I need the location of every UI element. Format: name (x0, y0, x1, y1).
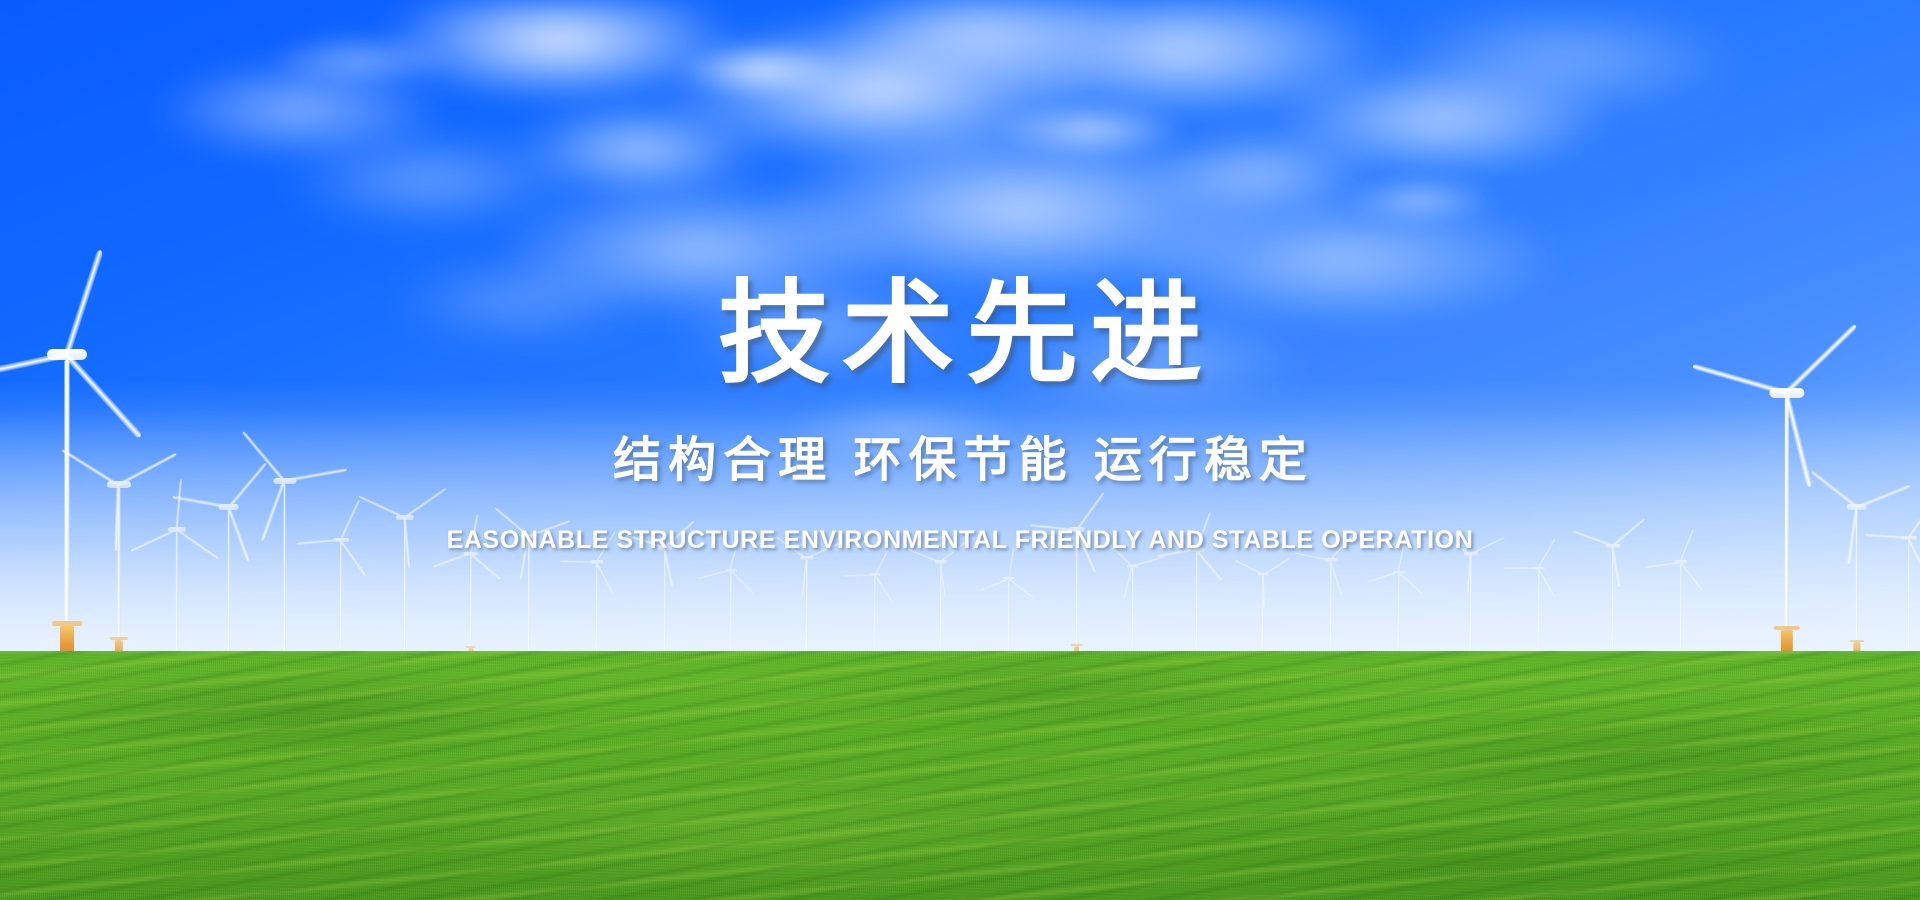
turbine-4 (228, 0, 229, 660)
turbine-blade (284, 468, 348, 483)
turbine-blade (1693, 364, 1788, 397)
turbine-blade (1008, 578, 1033, 599)
turbine-tower (227, 510, 230, 660)
turbine-blade (1679, 528, 1695, 563)
turbine-25 (1612, 0, 1613, 660)
turbine-blade (1504, 567, 1538, 569)
turbine-blade (494, 506, 530, 536)
turbine-blade (1030, 523, 1076, 531)
turbine-tower (730, 572, 732, 660)
turbine-13 (806, 0, 807, 660)
turbine-blade (1262, 557, 1290, 576)
turbine-tower (1008, 580, 1010, 660)
banner-stage: 技术先进 结构合理 环保节能 运行稳定 EASONABLE STRUCTURE … (0, 0, 1920, 900)
turbine-9 (528, 0, 529, 660)
turbine-26 (1680, 0, 1681, 660)
turbine-blade (1195, 512, 1211, 550)
turbine-blade (1234, 559, 1263, 576)
turbine-tower (1784, 398, 1788, 660)
turbine-tower (596, 564, 598, 660)
turbine-blade (339, 499, 360, 540)
turbine-blade (1865, 533, 1909, 539)
turbine-blade (470, 553, 502, 580)
turbine-tower (1132, 568, 1134, 660)
turbine-tower (340, 542, 342, 660)
turbine-blade (227, 507, 250, 562)
turbine-blade (433, 553, 471, 569)
turbine-tower (806, 560, 808, 660)
turbine-blade (1644, 561, 1680, 568)
turbine-blade (596, 531, 617, 563)
turbine-6 (340, 0, 341, 660)
turbine-blade (175, 479, 183, 530)
turbine-platform (1773, 626, 1799, 630)
turbine-tower (1398, 574, 1400, 660)
turbine-blade (64, 352, 143, 438)
turbine-blade (907, 548, 940, 563)
turbine-blade (1367, 571, 1399, 583)
turbine-11 (664, 0, 665, 660)
turbine-tower (1538, 570, 1540, 660)
turbine-blade (1107, 542, 1133, 567)
turbine-blade (698, 569, 730, 580)
turbine-blade (1810, 471, 1857, 509)
turbine-tower (470, 556, 472, 660)
turbine-blade (626, 535, 664, 550)
turbine-tower (528, 538, 530, 660)
turbine-blade (874, 546, 891, 575)
turbine-blade (1612, 518, 1646, 547)
turbine-23 (1470, 0, 1471, 660)
turbine-17 (1076, 0, 1077, 660)
turbine-blade (176, 528, 219, 560)
turbine-blade (1008, 548, 1014, 579)
turbine-blade (1538, 568, 1557, 599)
turbine-blade (63, 249, 104, 356)
turbine-blade (61, 448, 119, 487)
turbine-7 (404, 0, 405, 660)
turbine-blade (118, 452, 178, 487)
turbine-14 (874, 0, 875, 660)
turbine-blade (664, 521, 695, 549)
turbine-tower (874, 576, 876, 660)
turbine-tower (175, 532, 177, 660)
turbine-blade (1398, 572, 1424, 596)
turbine-blade (130, 528, 177, 552)
turbine-blade (940, 540, 969, 563)
turbine-tower (1612, 548, 1614, 660)
turbine-blade (0, 351, 67, 381)
turbine-blade (1784, 324, 1858, 396)
turbine-blade (1573, 530, 1613, 547)
green-grass-field (0, 651, 1920, 900)
turbine-3 (176, 0, 177, 660)
turbine-tower (1680, 564, 1682, 660)
turbine-15 (940, 0, 941, 660)
turbine-tower (664, 550, 666, 660)
turbine-5 (284, 0, 285, 660)
turbine-blade (1470, 536, 1506, 555)
turbine-blade (297, 538, 341, 545)
turbine-21 (1330, 0, 1331, 660)
turbine-blade (469, 515, 478, 554)
turbine-20 (1262, 0, 1263, 660)
turbine-blade (242, 431, 286, 482)
turbine-blade (1196, 549, 1223, 581)
turbine-12 (730, 0, 731, 660)
turbine-24 (1538, 0, 1539, 660)
turbine-blade (1262, 574, 1265, 606)
turbine-blade (227, 462, 267, 508)
turbine-blade (339, 539, 367, 577)
turbine-blade (1397, 540, 1406, 573)
turbine-2 (118, 0, 119, 660)
turbine-blade (874, 574, 893, 602)
turbine-blade (358, 495, 405, 519)
turbine-platform (110, 637, 128, 640)
turbine-blade (1330, 532, 1356, 561)
turbine-tower (1330, 562, 1332, 660)
turbine-blade (404, 487, 447, 519)
turbine-tower (1855, 510, 1858, 660)
turbine-blade (1295, 552, 1331, 562)
turbine-blade (528, 519, 570, 537)
turbine-tower (283, 484, 286, 660)
turbine-18 (1132, 0, 1133, 660)
wind-turbine-farm (0, 0, 1920, 660)
turbine-blade (595, 562, 614, 595)
turbine-blade (1907, 501, 1920, 539)
turbine-platform (465, 646, 476, 648)
turbine-tower (1908, 540, 1910, 660)
turbine-platform (1849, 640, 1865, 643)
turbine-blade (1438, 532, 1471, 556)
turbine-blade (980, 578, 1009, 591)
turbine-blade (1538, 538, 1557, 569)
turbine-blade (730, 570, 755, 595)
turbine-blade (1856, 484, 1910, 509)
grass-texture (0, 651, 1920, 900)
turbine-16 (1008, 0, 1009, 660)
turbine-platform (1070, 644, 1083, 646)
turbine-blade (729, 538, 740, 570)
turbine-28 (1856, 0, 1857, 660)
turbine-29 (1908, 0, 1909, 660)
turbine-blade (806, 542, 841, 559)
turbine-tower (64, 360, 69, 660)
turbine-27 (1786, 0, 1787, 660)
turbine-blade (560, 560, 596, 564)
turbine-1 (66, 0, 67, 660)
turbine-8 (470, 0, 471, 660)
turbine-19 (1196, 0, 1197, 660)
turbine-blade (1075, 529, 1096, 572)
turbine-22 (1398, 0, 1399, 660)
turbine-platform (52, 621, 82, 626)
turbine-tower (1196, 552, 1198, 660)
turbine-blade (1680, 561, 1704, 591)
turbine-blade (843, 573, 875, 576)
turbine-blade (1075, 491, 1105, 530)
turbine-10 (596, 0, 597, 660)
turbine-tower (1075, 532, 1077, 660)
turbine-blade (776, 535, 808, 559)
